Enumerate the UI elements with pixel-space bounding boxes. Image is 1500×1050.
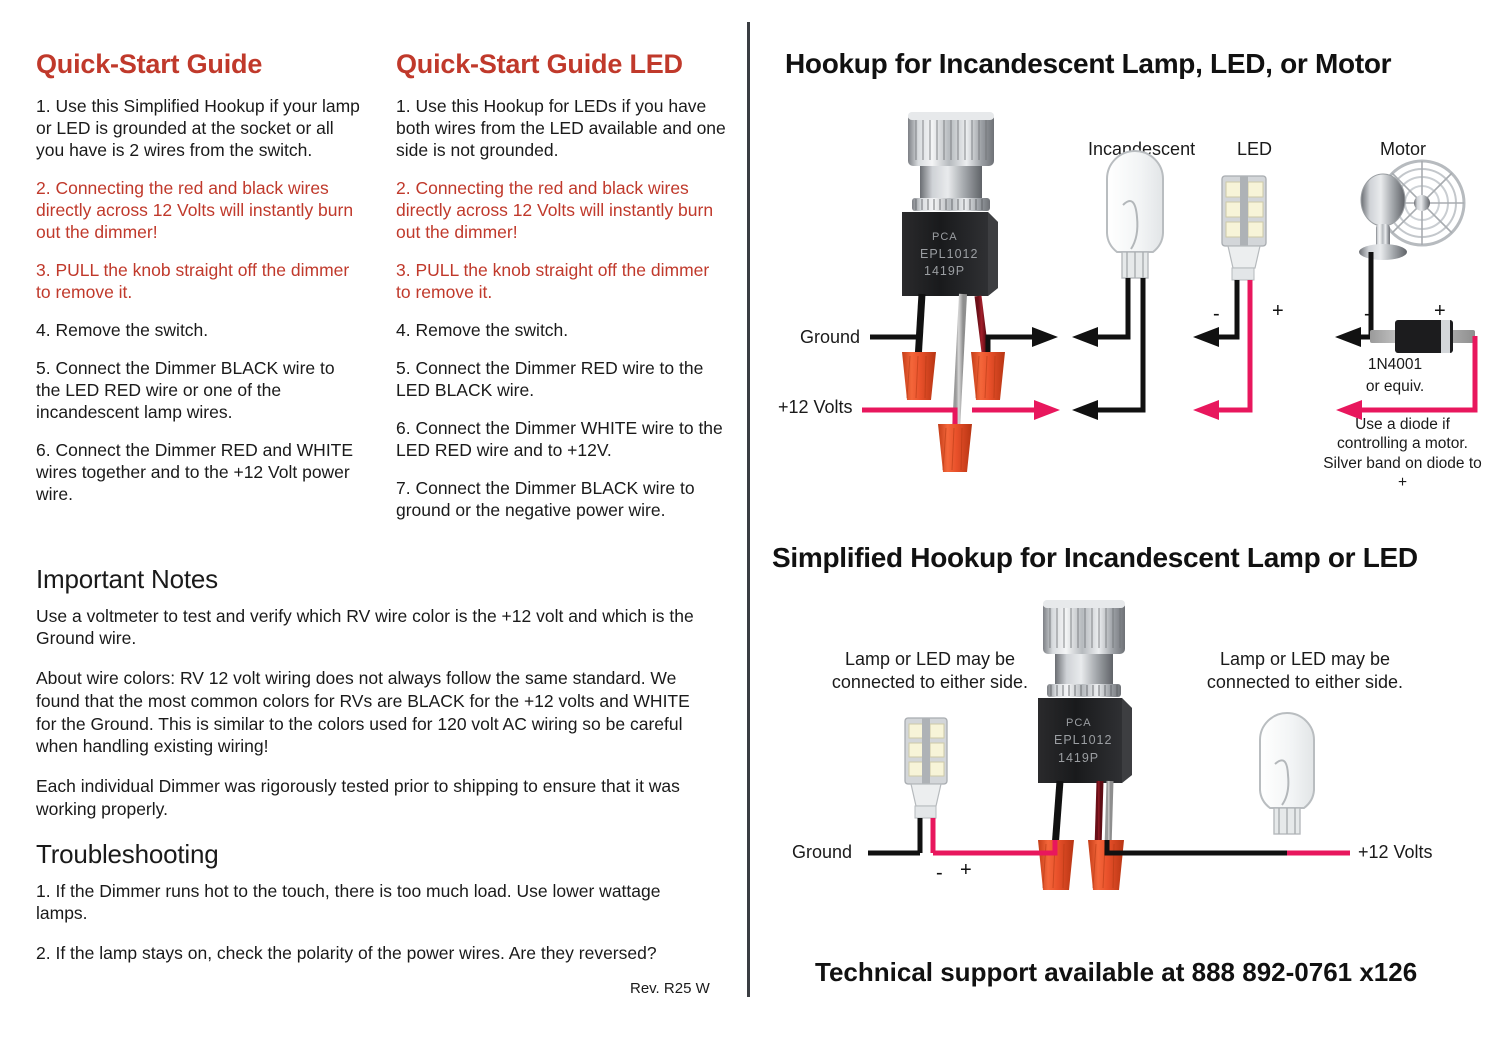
troubleshooting-item-1: 1. If the Dimmer runs hot to the touch, …	[36, 880, 696, 926]
qsgled-step-7: 7. Connect the Dimmer BLACK wire to grou…	[396, 477, 726, 521]
quick-start-guide-led-column: Quick-Start Guide LED 1. Use this Hookup…	[396, 50, 726, 537]
motor-positive-sign: +	[1434, 300, 1446, 323]
important-note-2: About wire colors: RV 12 volt wiring doe…	[36, 667, 696, 758]
dimmer-device-bottom: PCA EPL1012 1419P	[1038, 600, 1132, 848]
bottom-note-right: Lamp or LED may be connected to either s…	[1190, 648, 1420, 693]
load-bus-pink-arrow	[1034, 400, 1060, 420]
led-positive-sign: +	[1272, 300, 1284, 323]
motor-label: Motor	[1380, 139, 1426, 160]
important-notes-section: Important Notes Use a voltmeter to test …	[36, 565, 696, 838]
load-bus-arrow-right	[1032, 327, 1058, 347]
positive-wire-top	[862, 410, 955, 424]
dimmer-black-lead-top	[918, 294, 922, 360]
wire-nut-middle	[971, 352, 1005, 400]
diode-usage-note: Use a diode if controlling a motor. Silv…	[1320, 415, 1485, 493]
dimmer-marking-line1-top: PCA	[932, 231, 958, 243]
troubleshooting-item-2: 2. If the lamp stays on, check the polar…	[36, 942, 696, 965]
dimmer-black-lead-bottom	[1055, 781, 1060, 848]
bottom-positive-label: +12 Volts	[1358, 842, 1433, 863]
revision-label: Rev. R25 W	[630, 980, 710, 997]
dimmer-marking-line1-bottom: PCA	[1066, 717, 1092, 729]
led-negative-sign: -	[1213, 303, 1220, 326]
dimmer-marking-line2-bottom: EPL1012	[1054, 733, 1112, 747]
qsgled-step-4: 4. Remove the switch.	[396, 319, 726, 341]
top-ground-label: Ground	[800, 327, 860, 348]
led-bulb-top	[1193, 176, 1266, 420]
quick-start-guide-column: Quick-Start Guide 1. Use this Simplified…	[36, 50, 361, 521]
wire-nut-bottom	[938, 424, 972, 472]
bottom-negative-sign: -	[936, 862, 943, 885]
ground-wire-top	[870, 337, 919, 352]
bottom-black-bus	[1107, 840, 1287, 853]
wire-nut-left	[902, 352, 936, 400]
technical-support-footer: Technical support available at 888 892-0…	[815, 957, 1417, 988]
qsg-step-3: 3. PULL the knob straight off the dimmer…	[36, 259, 361, 303]
qsg-step-1: 1. Use this Simplified Hookup if your la…	[36, 95, 361, 161]
dimmer-red-lead-top	[978, 296, 986, 360]
qsgled-step-1: 1. Use this Hookup for LEDs if you have …	[396, 95, 726, 161]
diode-part-number: 1N4001	[1325, 355, 1465, 374]
bottom-diagram-title: Simplified Hookup for Incandescent Lamp …	[772, 542, 1418, 574]
quick-start-guide-led-heading: Quick-Start Guide LED	[396, 50, 726, 80]
load-bus-black-top	[988, 337, 1035, 352]
led-bulb-bottom	[905, 718, 947, 853]
bottom-ground-label: Ground	[792, 842, 852, 863]
dimmer-marking-line2-top: EPL1012	[920, 247, 978, 261]
instruction-sheet: Quick-Start Guide 1. Use this Simplified…	[0, 0, 1500, 1050]
bottom-note-left: Lamp or LED may be connected to either s…	[815, 648, 1045, 693]
important-note-1: Use a voltmeter to test and verify which…	[36, 605, 696, 651]
important-notes-heading: Important Notes	[36, 565, 696, 594]
motor-negative-sign: -	[1364, 303, 1371, 326]
wire-nut-bottom-left	[1038, 840, 1074, 890]
diode-1n4001	[1370, 320, 1475, 353]
led-positive-lead	[1207, 280, 1250, 410]
dimmer-marking-line3-top: 1419P	[924, 264, 965, 278]
qsgled-step-6: 6. Connect the Dimmer WHITE wire to the …	[396, 417, 726, 461]
incandescent-label: Incandescent	[1088, 139, 1195, 160]
qsgled-step-5: 5. Connect the Dimmer RED wire to the LE…	[396, 357, 726, 401]
wire-nut-group-top	[902, 352, 1005, 472]
incandescent-lead-left	[1080, 278, 1128, 337]
troubleshooting-section: Troubleshooting 1. If the Dimmer runs ho…	[36, 840, 696, 982]
led-negative-lead	[1205, 280, 1237, 337]
quick-start-guide-heading: Quick-Start Guide	[36, 50, 361, 80]
qsg-step-5: 5. Connect the Dimmer BLACK wire to the …	[36, 357, 361, 423]
qsg-step-4: 4. Remove the switch.	[36, 319, 361, 341]
right-diagram-panel: Hookup for Incandescent Lamp, LED, or Mo…	[750, 0, 1500, 1050]
dimmer-white-lead-top	[956, 294, 963, 430]
top-positive-label: +12 Volts	[778, 397, 853, 418]
led-label: LED	[1237, 139, 1272, 160]
dimmer-white-lead-bottom	[1108, 781, 1110, 848]
incandescent-bulb-top	[1072, 151, 1163, 420]
qsgled-step-2: 2. Connecting the red and black wires di…	[396, 177, 726, 243]
top-diagram-title: Hookup for Incandescent Lamp, LED, or Mo…	[785, 48, 1391, 80]
qsgled-step-3: 3. PULL the knob straight off the dimmer…	[396, 259, 726, 303]
bottom-positive-sign: +	[960, 859, 972, 882]
dimmer-red-lead-bottom	[1098, 781, 1100, 848]
wire-nut-group-bottom	[1038, 840, 1124, 890]
important-note-3: Each individual Dimmer was rigorously te…	[36, 775, 696, 821]
troubleshooting-heading: Troubleshooting	[36, 840, 696, 869]
qsg-step-2: 2. Connecting the red and black wires di…	[36, 177, 361, 243]
incandescent-bulb-bottom	[1260, 713, 1314, 834]
qsg-step-6: 6. Connect the Dimmer RED and WHITE wire…	[36, 439, 361, 505]
diode-alternate-label: or equiv.	[1325, 377, 1465, 396]
bottom-pink-bus	[933, 840, 1055, 853]
left-text-panel: Quick-Start Guide 1. Use this Simplified…	[0, 0, 748, 1050]
incandescent-lead-right	[1082, 278, 1143, 410]
dimmer-marking-line3-bottom: 1419P	[1058, 751, 1099, 765]
dimmer-device-top: PCA EPL1012 1419P	[902, 112, 998, 430]
wire-nut-bottom-right	[1088, 840, 1124, 890]
